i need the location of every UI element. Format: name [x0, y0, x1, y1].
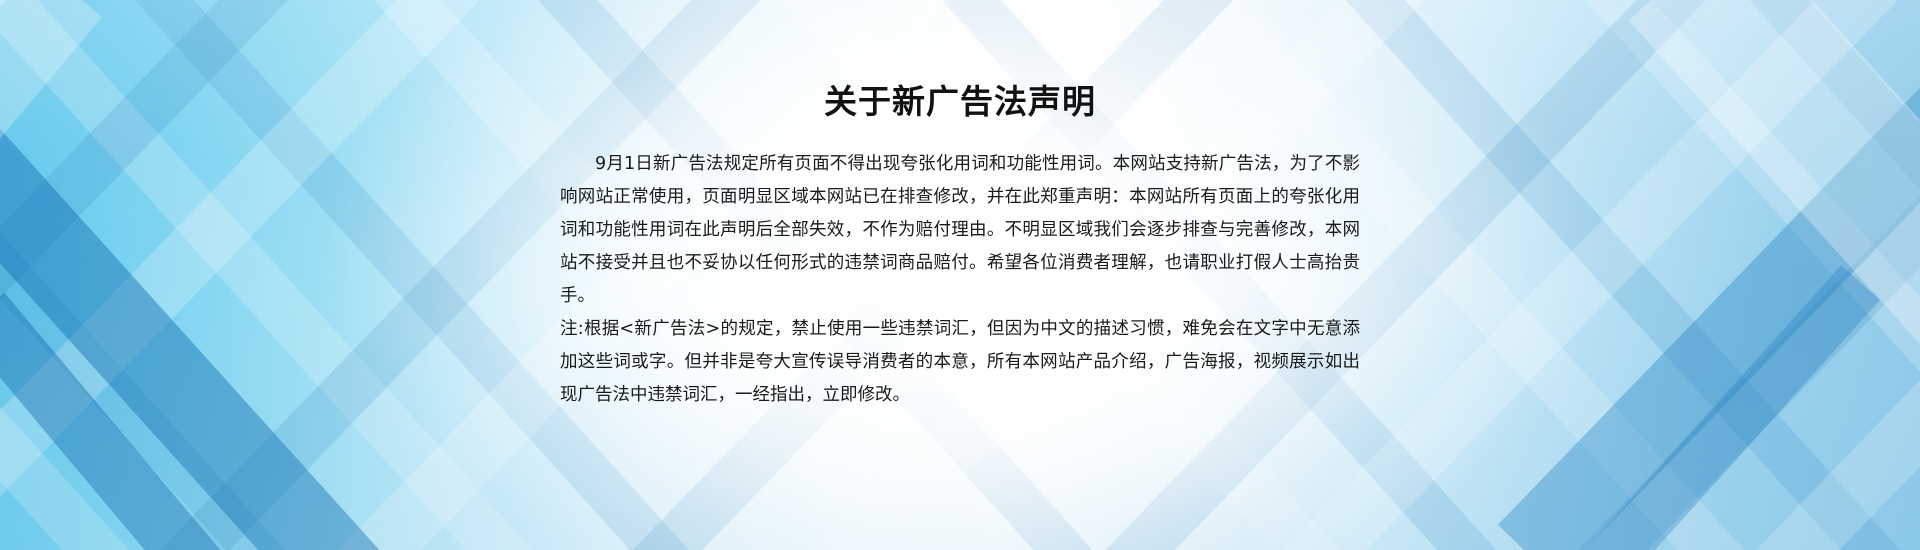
decorative-shard-right-deep-upper: [1498, 64, 1920, 550]
decorative-shard-right-deep-lower: [1560, 265, 1880, 550]
statement-paragraph-main: 9月1日新广告法规定所有页面不得出现夸张化用词和功能性用词。本网站支持新广告法，…: [560, 148, 1360, 313]
advertising-law-statement-banner: 关于新广告法声明 9月1日新广告法规定所有页面不得出现夸张化用词和功能性用词。本…: [0, 0, 1920, 550]
decorative-shard-left-light: [0, 0, 102, 492]
decorative-shard-right-light: [1629, 0, 1920, 550]
decorative-shard-left-deep-lower: [0, 293, 274, 550]
page-title: 关于新广告法声明: [560, 82, 1360, 122]
decorative-shard-left-deep-upper: [0, 70, 415, 550]
statement-paragraph-note: 注:根据<新广告法>的规定，禁止使用一些违禁词汇，但因为中文的描述习惯，难免会在…: [560, 313, 1360, 412]
statement-content: 关于新广告法声明 9月1日新广告法规定所有页面不得出现夸张化用词和功能性用词。本…: [560, 0, 1360, 412]
